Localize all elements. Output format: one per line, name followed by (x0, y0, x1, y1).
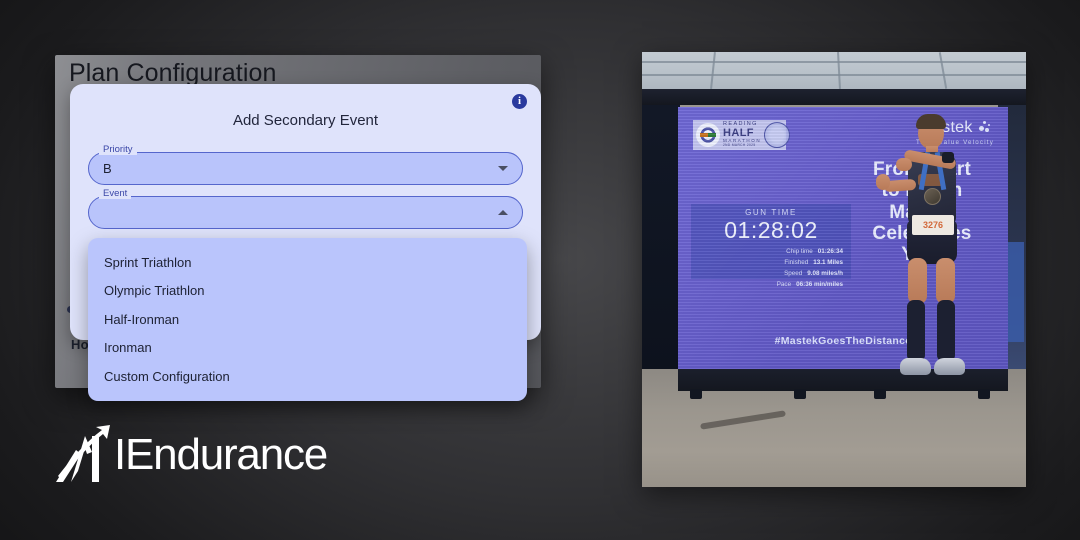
roof (642, 52, 1026, 89)
event-label: Event (99, 188, 131, 199)
reading-half-marathon-logo: READING HALF MARATHON 2ND MARCH 2025 (693, 120, 786, 150)
result-row: Chip time 01:26:34 (691, 246, 843, 257)
option-olympic-triathlon[interactable]: Olympic Triathlon (88, 277, 527, 306)
result-key: Finished (784, 257, 808, 268)
runner: 3276 (874, 108, 994, 398)
result-value: 01:26:34 (818, 246, 843, 257)
ai-arrow-mark-icon (52, 424, 116, 486)
left-wall (642, 105, 680, 369)
race-finish-photo: READING HALF MARATHON 2ND MARCH 2025 GUN… (642, 52, 1026, 487)
info-icon[interactable]: i (512, 94, 527, 109)
option-sprint-triathlon[interactable]: Sprint Triathlon (88, 248, 527, 277)
priority-value: B (103, 161, 498, 176)
ceiling-band (642, 89, 1026, 105)
result-key: Speed (784, 268, 802, 279)
event-select-box[interactable] (88, 196, 523, 229)
result-value: 06:36 min/miles (796, 279, 843, 290)
result-key: Pace (777, 279, 791, 290)
logo-wordmark: IEndurance (114, 433, 327, 477)
gun-time-label: GUN TIME (691, 208, 851, 217)
priority-label: Priority (99, 144, 137, 155)
chevron-up-icon (498, 210, 508, 215)
result-row: Speed 9.08 miles/h (691, 268, 843, 279)
event-select[interactable]: Event (88, 196, 523, 229)
results-panel: GUN TIME 01:28:02 Chip time 01:26:34 Fin… (691, 204, 851, 279)
sunburst-icon (696, 123, 720, 147)
app-screenshot: Plan Configuration Ho i Add Secondary Ev… (55, 55, 541, 388)
bib-number: 3276 (918, 220, 948, 230)
priority-select[interactable]: Priority B (88, 152, 523, 185)
result-row: Finished 13.1 Miles (691, 257, 843, 268)
ground-mark (700, 410, 786, 429)
priority-select-box[interactable]: B (88, 152, 523, 185)
option-half-ironman[interactable]: Half-Ironman (88, 305, 527, 334)
event-options-list[interactable]: Sprint Triathlon Olympic Triathlon Half-… (88, 238, 527, 401)
gun-time-value: 01:28:02 (691, 218, 851, 243)
result-value: 9.08 miles/h (807, 268, 843, 279)
option-custom-configuration[interactable]: Custom Configuration (88, 362, 527, 391)
aiendurance-logo: IEndurance (52, 424, 327, 486)
dialog-title: Add Secondary Event (70, 112, 541, 129)
result-value: 13.1 Miles (813, 257, 843, 268)
result-row: Pace 06:36 min/miles (691, 279, 843, 290)
crest-seal-icon (764, 122, 790, 148)
event-logo-line4: 2ND MARCH 2025 (723, 144, 761, 147)
chevron-down-icon (498, 166, 508, 171)
option-ironman[interactable]: Ironman (88, 334, 527, 363)
result-key: Chip time (786, 246, 813, 257)
